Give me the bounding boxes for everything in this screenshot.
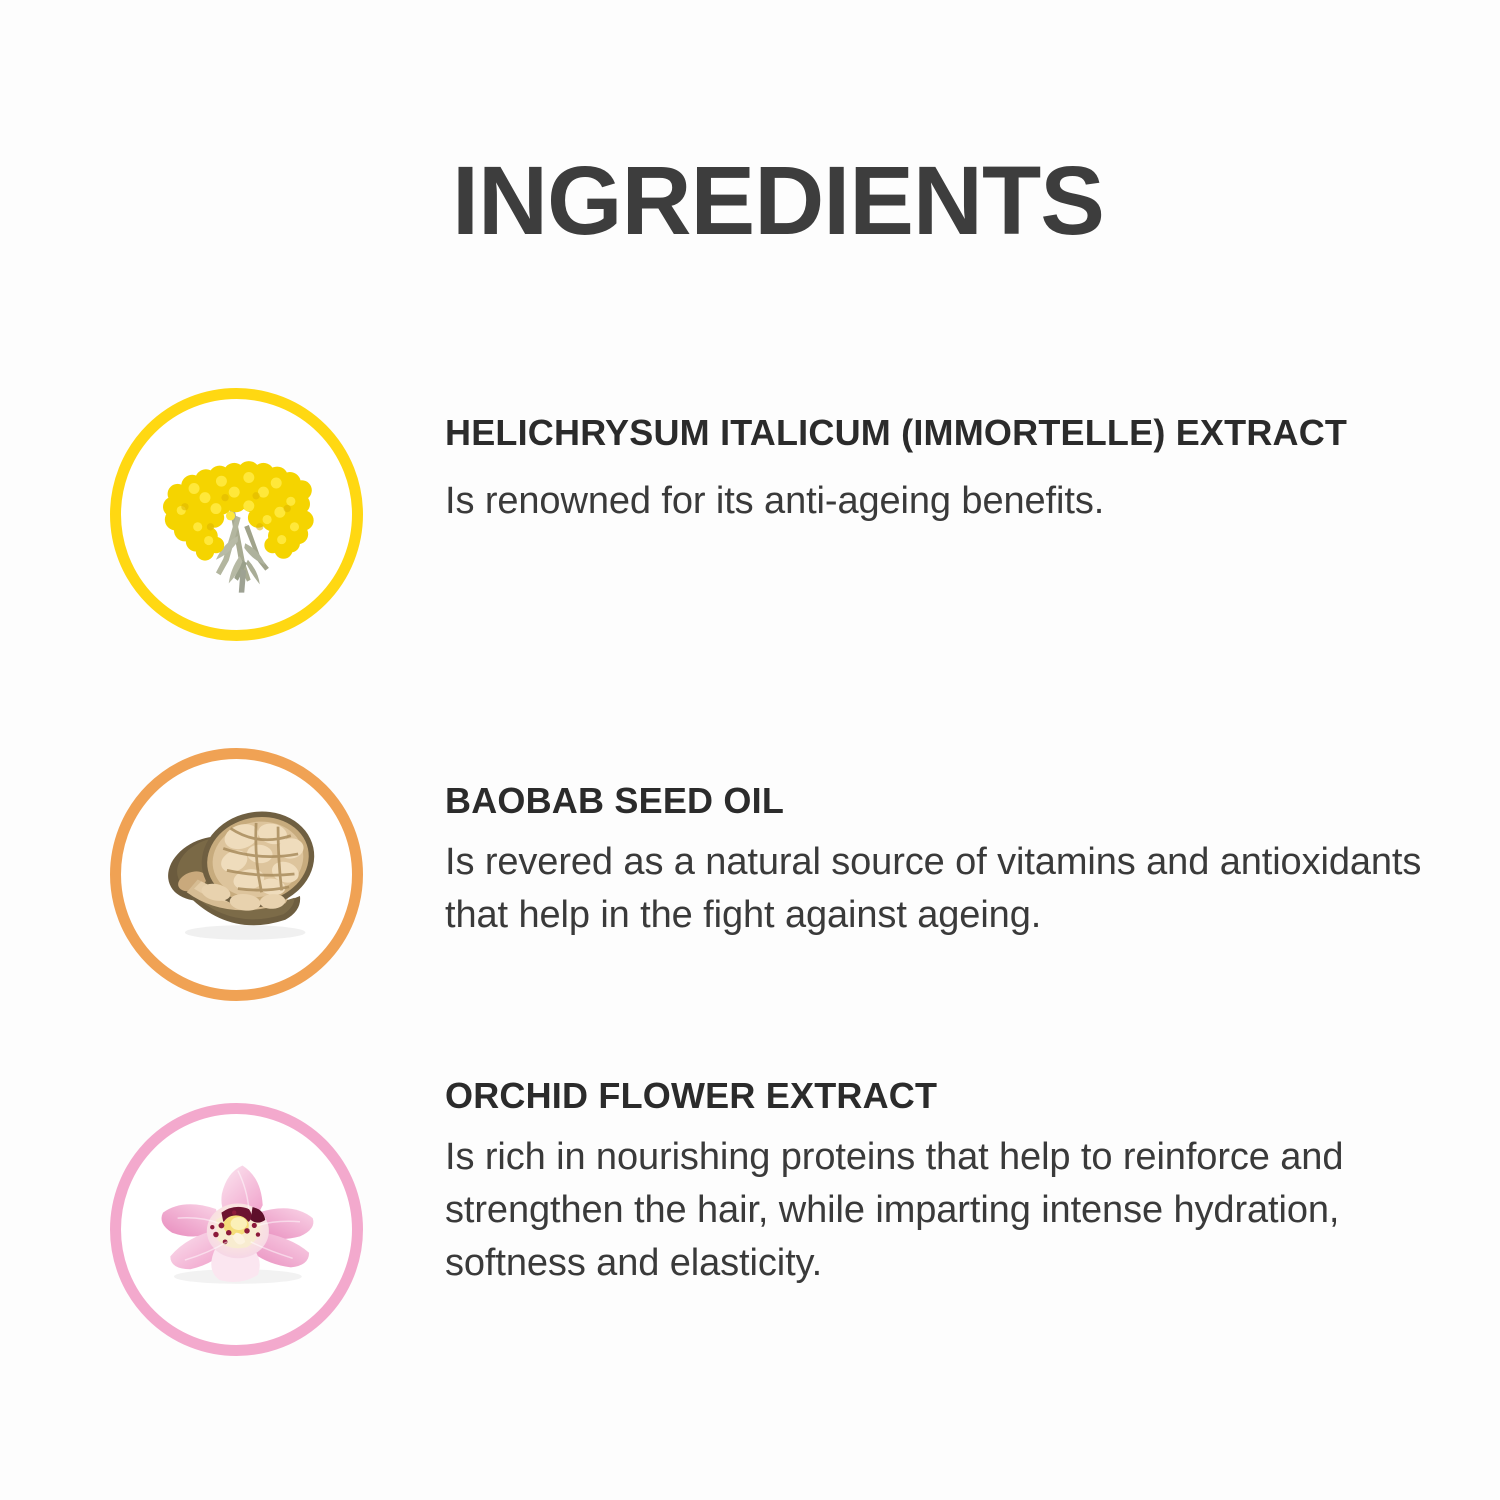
ingredient-name: HELICHRYSUM ITALICUM (IMMORTELLE) EXTRAC…: [445, 410, 1455, 455]
ingredient-name: BAOBAB SEED OIL: [445, 778, 1455, 823]
ingredient-text-block: HELICHRYSUM ITALICUM (IMMORTELLE) EXTRAC…: [445, 410, 1455, 528]
ingredient-list: HELICHRYSUM ITALICUM (IMMORTELLE) EXTRAC…: [0, 0, 1500, 1500]
ingredient-text-block: BAOBAB SEED OIL Is revered as a natural …: [445, 778, 1455, 942]
ingredient-description: Is revered as a natural source of vitami…: [445, 836, 1455, 942]
ingredient-description: Is renowned for its anti-ageing benefits…: [445, 475, 1455, 528]
ingredient-description: Is rich in nourishing proteins that help…: [445, 1131, 1455, 1290]
baobab-seed-pod-icon: [121, 759, 352, 990]
baobab-seed-pod-icon-circle: [110, 748, 363, 1001]
ingredients-page: INGREDIENTS: [0, 0, 1500, 1500]
orchid-flower-icon: [121, 1114, 352, 1345]
immortelle-flower-icon-circle: [110, 388, 363, 641]
ingredient-text-block: ORCHID FLOWER EXTRACT Is rich in nourish…: [445, 1073, 1455, 1290]
ingredient-name: ORCHID FLOWER EXTRACT: [445, 1073, 1455, 1118]
orchid-flower-icon-circle: [110, 1103, 363, 1356]
immortelle-flower-icon: [121, 399, 352, 630]
